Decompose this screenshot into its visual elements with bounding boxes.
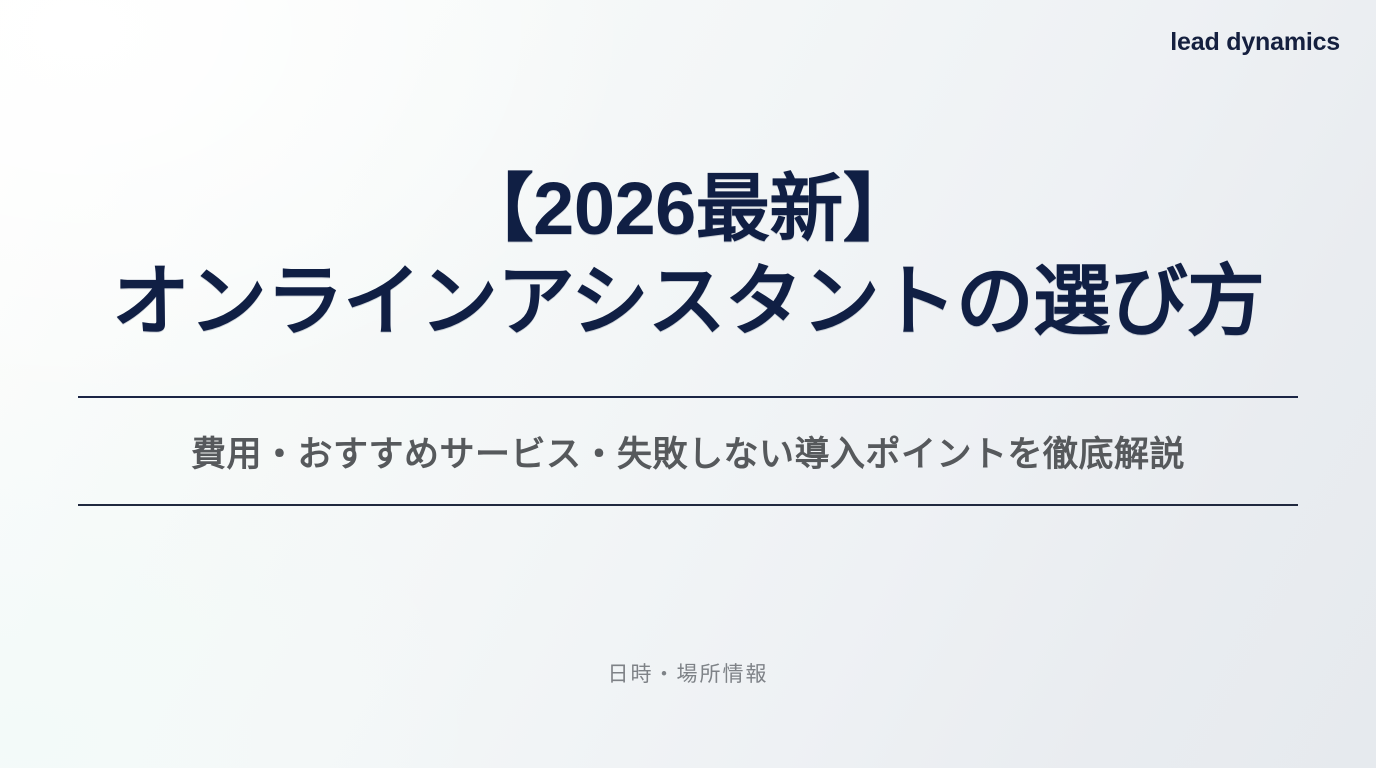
- subtitle-section: 費用・おすすめサービス・失敗しない導入ポイントを徹底解説: [78, 396, 1298, 506]
- subtitle-text: 費用・おすすめサービス・失敗しない導入ポイントを徹底解説: [78, 398, 1298, 504]
- title-line-2: オンラインアシスタントの選び方: [0, 262, 1376, 340]
- title-slide: lead dynamics 【2026最新】 オンラインアシスタントの選び方 費…: [0, 0, 1376, 768]
- divider-bottom: [78, 504, 1298, 506]
- title-line-1: 【2026最新】: [0, 172, 1376, 246]
- event-meta-text: 日時・場所情報: [0, 658, 1376, 688]
- title-block: 【2026最新】 オンラインアシスタントの選び方: [0, 172, 1376, 340]
- brand-logo: lead dynamics: [1170, 30, 1340, 55]
